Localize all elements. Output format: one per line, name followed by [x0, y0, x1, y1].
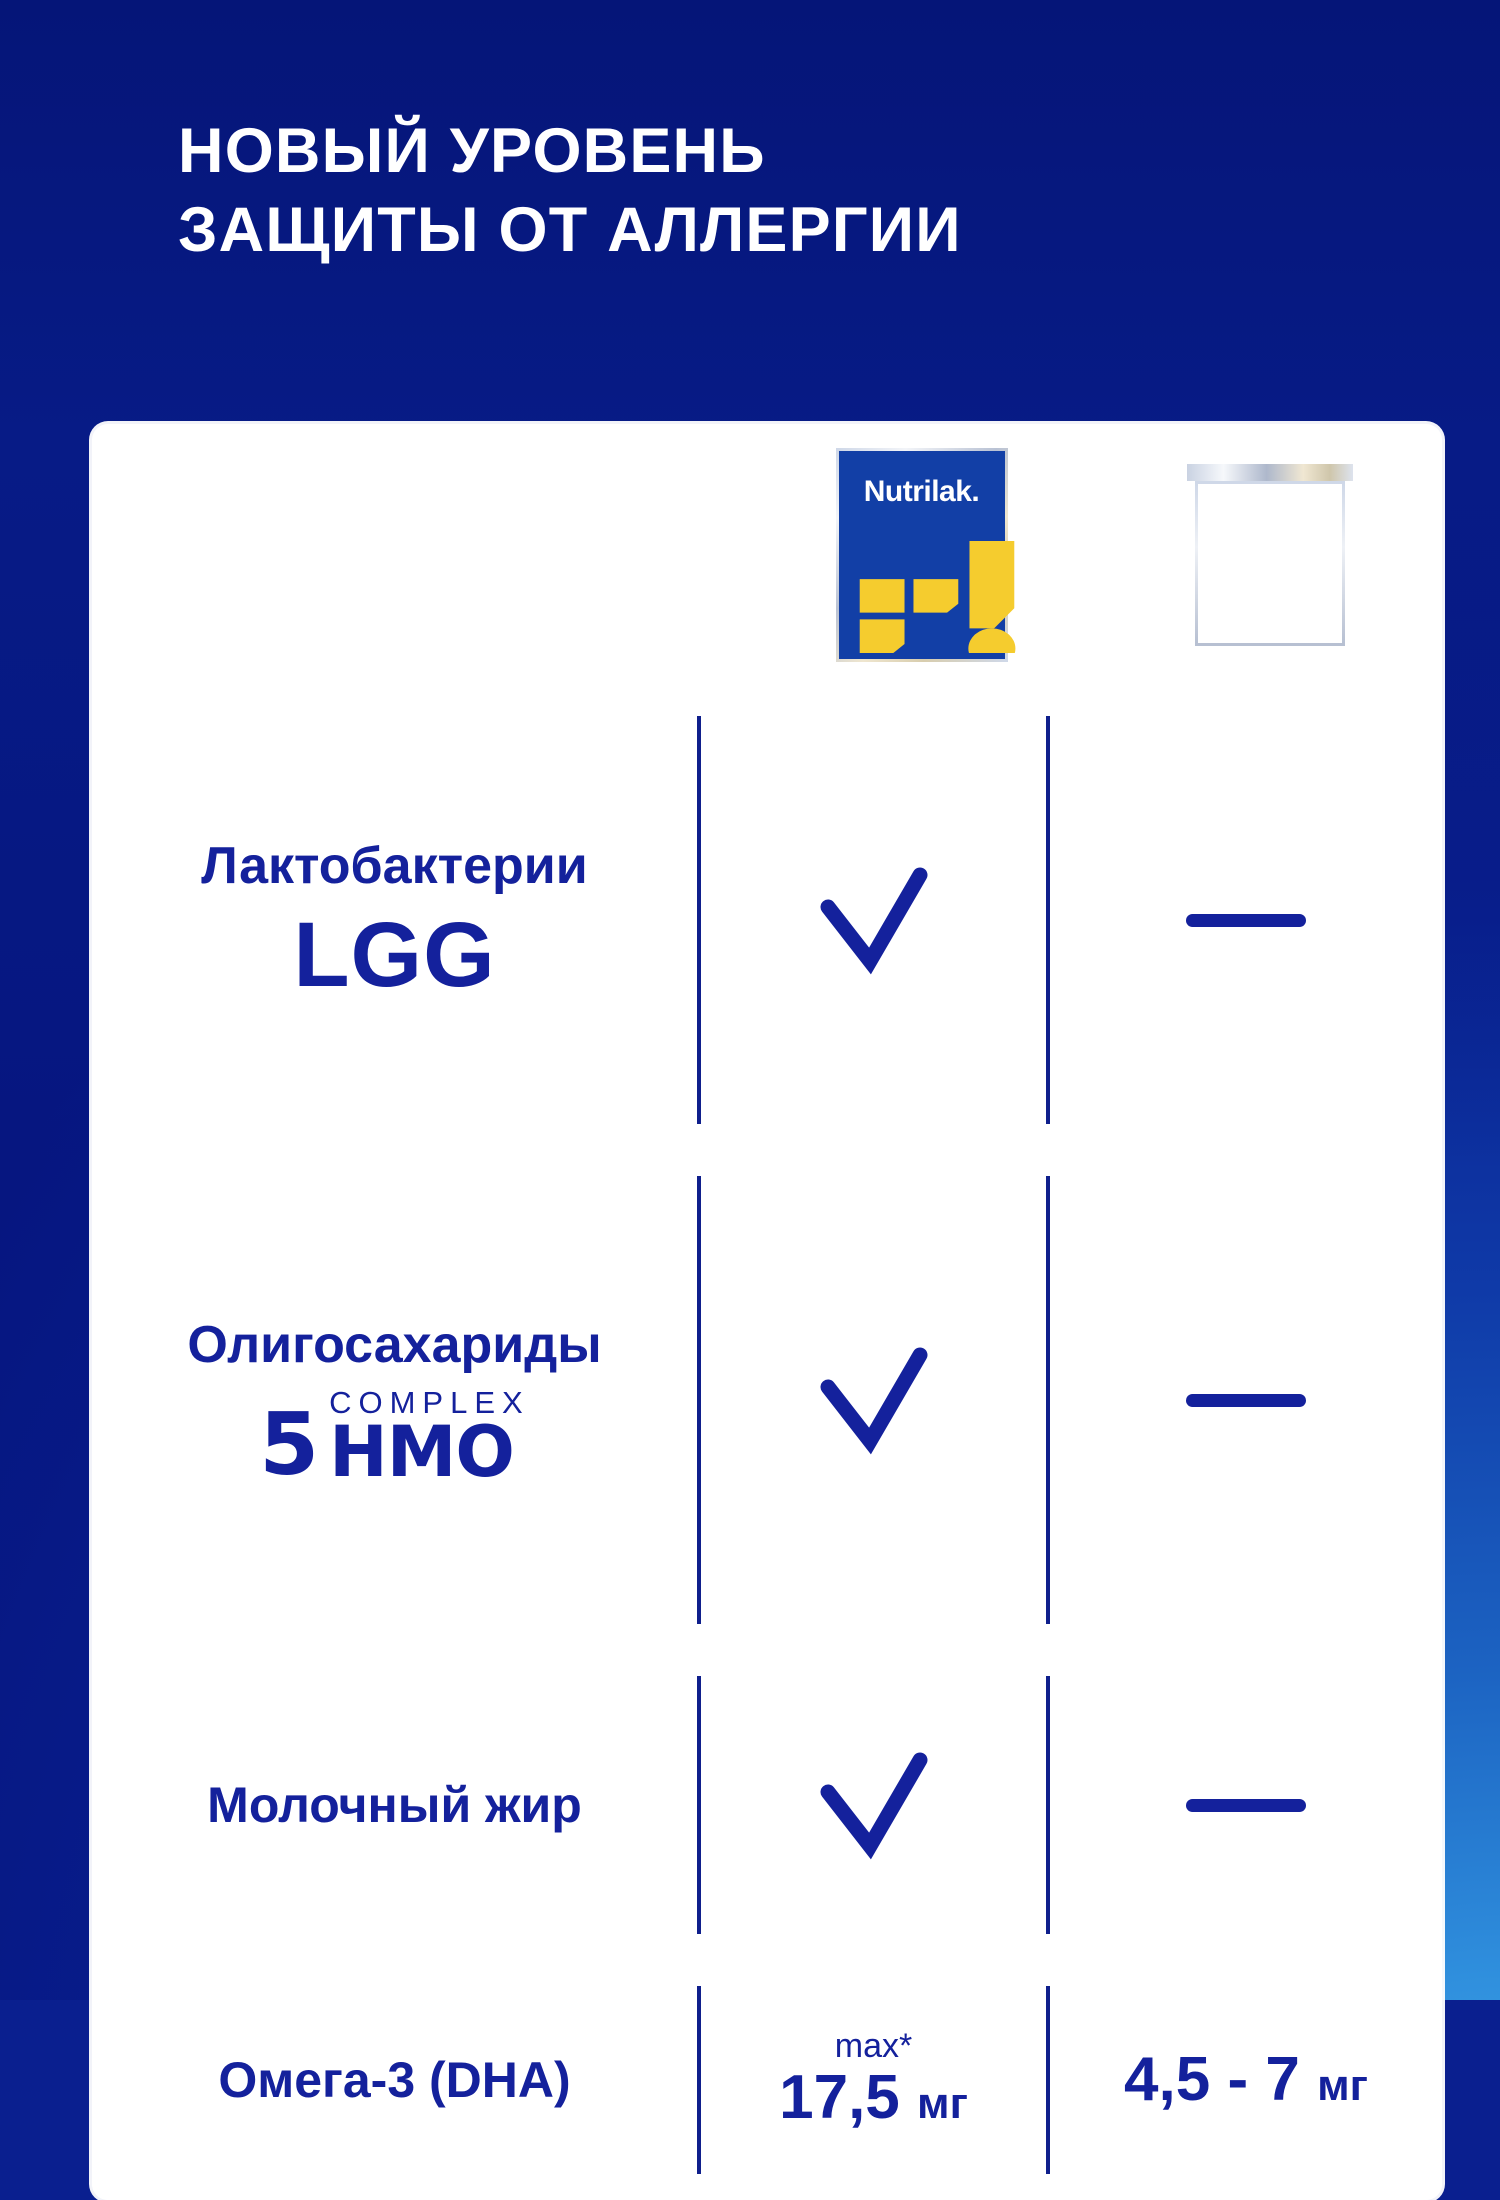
row-sublabel: LGG [114, 909, 675, 1001]
other-formula-can-icon: другие смеси [1195, 464, 1345, 646]
row-label: Олигосахариды [114, 1318, 675, 1373]
row-label: Лактобактерии [114, 839, 675, 894]
nutrilak-dha-number: 17,5 [779, 2063, 900, 2132]
nutrilak-brand-name: Nutrilak [864, 475, 972, 508]
nutrilak-value-cell [701, 865, 1046, 975]
nutrilak-brand-text: Nutrilak. [839, 475, 1005, 509]
row-label-cell: Олигосахариды 5 COMPLEX HMO [92, 1318, 697, 1482]
nutrilak-dha-value: 17,5 мг [779, 2065, 968, 2130]
other-dha-unit: мг [1317, 2061, 1368, 2110]
other-value-cell [1050, 1394, 1442, 1407]
page-title-line-2: ЗАЩИТЫ ОТ АЛЛЕРГИИ [178, 191, 1338, 270]
comparison-table: Компоненты Nutrilak. [92, 424, 1442, 2200]
table-header-nutrilak: Nutrilak. [749, 424, 1094, 686]
table-header-components: Компоненты [92, 424, 745, 686]
can-lid [1187, 464, 1353, 481]
other-value-cell [1050, 914, 1442, 927]
nutrilak-brand-dot: . [971, 475, 979, 508]
dash-icon [1186, 1799, 1306, 1812]
row-label-cell: Омега-3 (DHA) [92, 2051, 697, 2109]
hmo-text-group: COMPLEX HMO [329, 1387, 530, 1482]
hmo-label: HMO [329, 1422, 530, 1482]
table-body: Лактобактерии LGG Олигосахариды [92, 690, 1442, 2200]
hmo-count: 5 [259, 1409, 319, 1482]
page-title: НОВЫЙ УРОВЕНЬ ЗАЩИТЫ ОТ АЛЛЕРГИИ [178, 112, 1338, 271]
components-column-label: Компоненты [140, 530, 394, 580]
dash-icon [1186, 914, 1306, 927]
table-row: Лактобактерии LGG [92, 690, 1442, 1150]
nutrilak-logomark-icon [853, 541, 1021, 653]
nutrilak-value-cell: max* 17,5 мг [701, 2029, 1046, 2130]
other-dha-number: 4,5 - 7 [1124, 2045, 1300, 2114]
check-icon [814, 1750, 934, 1860]
row-label-cell: Молочный жир [92, 1776, 697, 1834]
row-label-cell: Лактобактерии LGG [92, 839, 697, 1002]
table-row: Омега-3 (DHA) max* 17,5 мг 4,5 - 7 мг [92, 1960, 1442, 2200]
nutrilak-value-cell [701, 1345, 1046, 1455]
other-formula-label-line-2: смеси [1195, 542, 1345, 574]
table-row: Олигосахариды 5 COMPLEX HMO [92, 1150, 1442, 1650]
other-formula-label-line-1: другие [1195, 510, 1345, 542]
nutrilak-pack-icon: Nutrilak. [836, 448, 1008, 662]
table-header-other: другие смеси [1098, 424, 1442, 686]
nutrilak-dha-unit: мг [917, 2079, 968, 2128]
page-title-line-1: НОВЫЙ УРОВЕНЬ [178, 112, 1338, 191]
check-icon [814, 1345, 934, 1455]
nutrilak-value-cell [701, 1750, 1046, 1860]
poster-canvas: НОВЫЙ УРОВЕНЬ ЗАЩИТЫ ОТ АЛЛЕРГИИ Компоне… [0, 0, 1500, 2000]
max-note: max* [835, 2029, 912, 2063]
table-header-row: Компоненты Nutrilak. [92, 424, 1442, 690]
other-value-cell [1050, 1799, 1442, 1812]
hmo-logo: 5 COMPLEX HMO [114, 1387, 675, 1482]
table-row: Молочный жир [92, 1650, 1442, 1960]
dash-icon [1186, 1394, 1306, 1407]
other-formula-label: другие смеси [1195, 510, 1345, 574]
footnote: * высокое содержание DHA [118, 1940, 452, 1971]
other-dha-value: 4,5 - 7 мг [1124, 2047, 1368, 2112]
row-label: Молочный жир [114, 1776, 675, 1834]
check-icon [814, 865, 934, 975]
row-label: Омега-3 (DHA) [114, 2051, 675, 2109]
other-value-cell: 4,5 - 7 мг [1050, 2047, 1442, 2112]
